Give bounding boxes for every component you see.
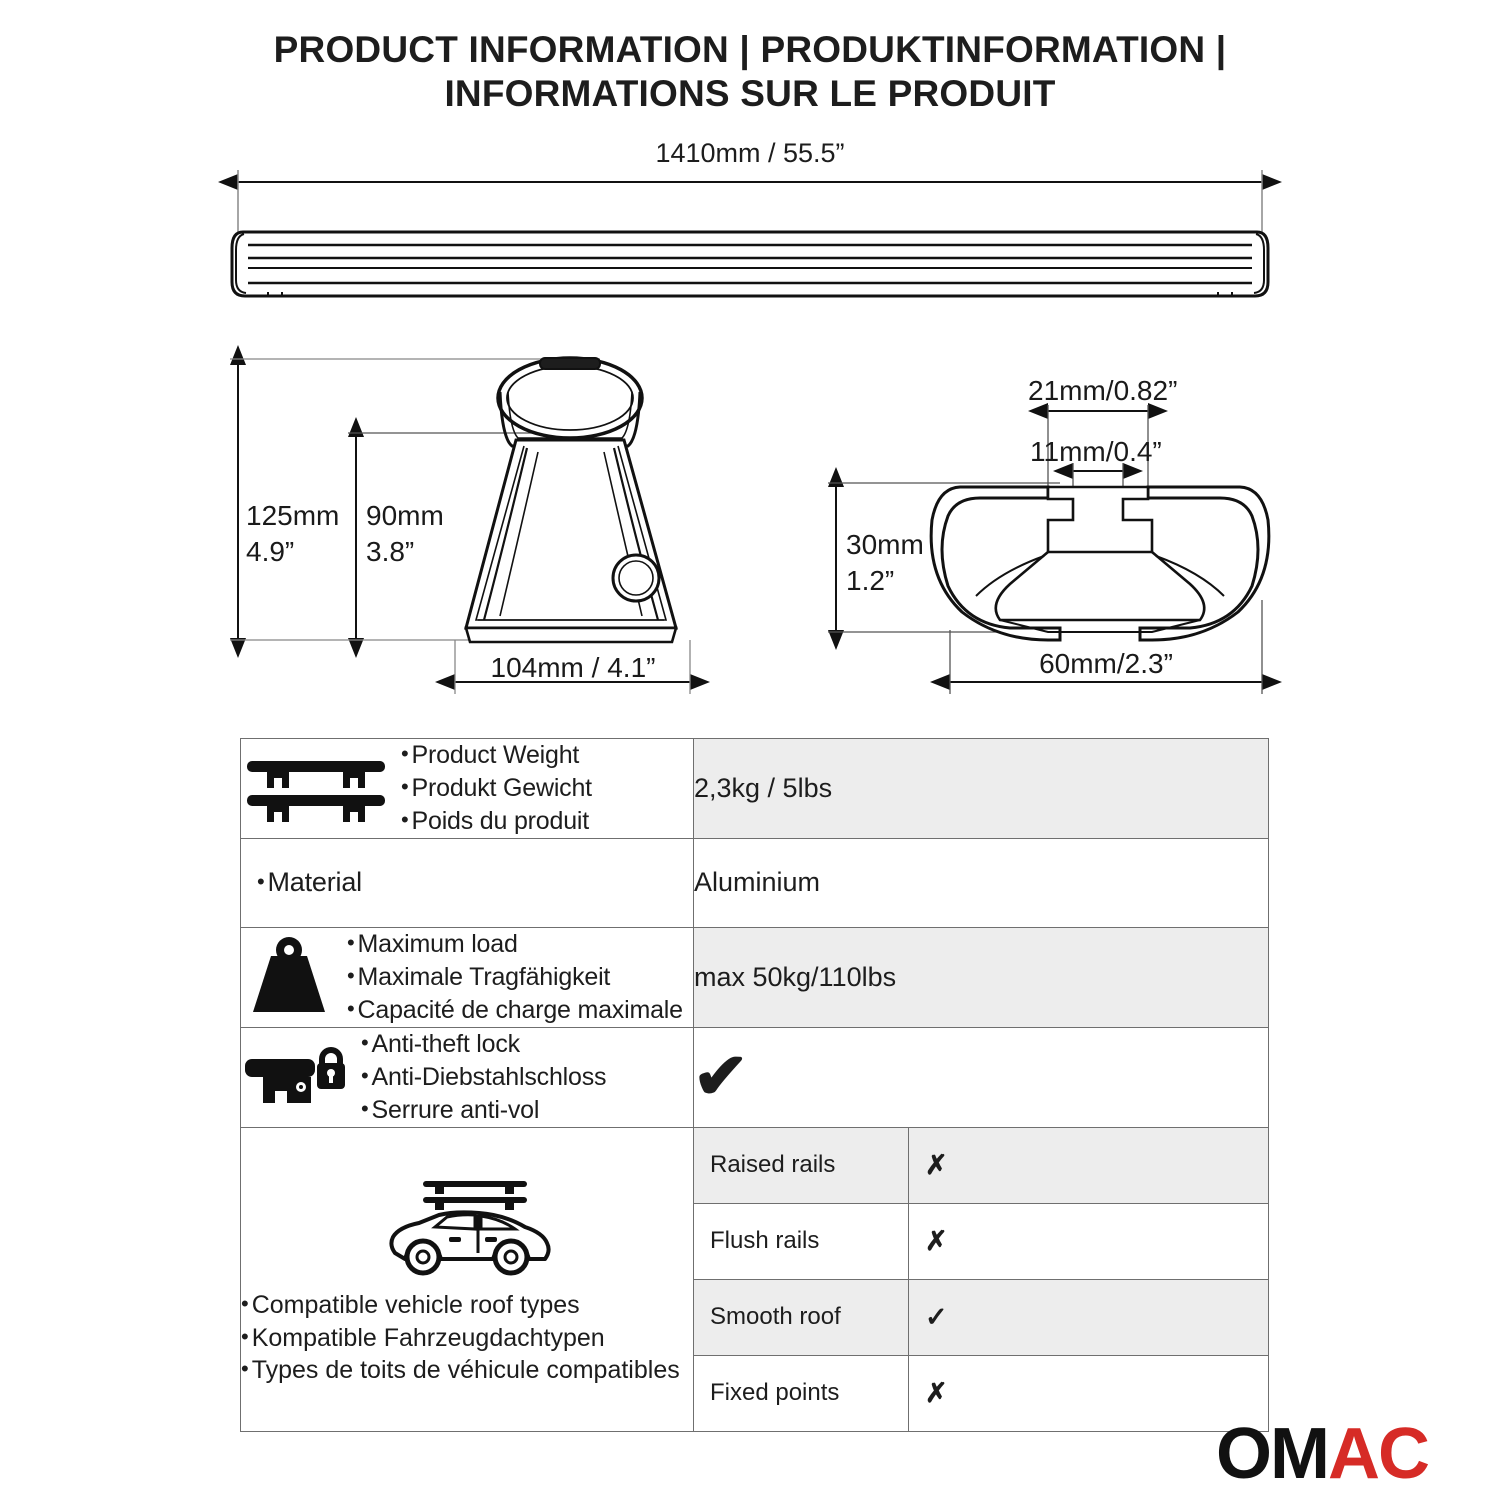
row-lock-value: ✔ bbox=[694, 1027, 1269, 1127]
logo-text-red: AC bbox=[1328, 1414, 1428, 1494]
roof-type-row: Smooth roof ✓ bbox=[694, 1279, 1268, 1355]
table-row: Maximum load Maximale Tragfähigkeit Capa… bbox=[241, 927, 1269, 1027]
row-roof-label-cell: Compatible vehicle roof types Kompatible… bbox=[241, 1127, 694, 1431]
logo-text-dark: OM bbox=[1216, 1414, 1328, 1494]
car-roof-icon bbox=[241, 1171, 693, 1283]
product-information-page: PRODUCT INFORMATION | PRODUKTINFORMATION… bbox=[0, 0, 1500, 1500]
roof-type-label: Raised rails bbox=[694, 1128, 909, 1204]
page-title-line2: INFORMATIONS SUR LE PRODUIT bbox=[0, 72, 1500, 116]
check-mark-icon: ✓ bbox=[925, 1302, 948, 1332]
row-lock-label-cell: Anti-theft lock Anti-Diebstahlschloss Se… bbox=[241, 1027, 694, 1127]
cross-mark-icon: ✗ bbox=[925, 1150, 948, 1180]
roof-type-mark: ✗ bbox=[909, 1355, 1269, 1431]
table-row: Anti-theft lock Anti-Diebstahlschloss Se… bbox=[241, 1027, 1269, 1127]
row-maxload-bullets: Maximum load Maximale Tragfähigkeit Capa… bbox=[347, 928, 683, 1027]
row-weight-value: 2,3kg / 5lbs bbox=[694, 739, 1269, 839]
foot-height-total-label: 125mm 4.9” bbox=[246, 498, 339, 571]
slot-outer-label: 21mm/0.82” bbox=[1028, 375, 1177, 407]
roof-type-row: Raised rails ✗ bbox=[694, 1128, 1268, 1204]
lock-icon bbox=[241, 1041, 351, 1113]
slot-inner-label: 11mm/0.4” bbox=[1030, 436, 1162, 468]
table-row: Compatible vehicle roof types Kompatible… bbox=[241, 1127, 1269, 1431]
specification-table: Product Weight Produkt Gewicht Poids du … bbox=[240, 738, 1269, 1432]
row-material-bullets: Material bbox=[241, 839, 693, 927]
row-material-value: Aluminium bbox=[694, 839, 1269, 928]
bar-cross-section bbox=[931, 487, 1269, 640]
roof-types-subtable: Raised rails ✗ Flush rails ✗ bbox=[694, 1128, 1268, 1431]
check-mark-icon: ✔ bbox=[693, 1048, 749, 1106]
row-lock-bullets: Anti-theft lock Anti-Diebstahlschloss Se… bbox=[361, 1028, 606, 1127]
row-weight-label-cell: Product Weight Produkt Gewicht Poids du … bbox=[241, 739, 694, 839]
crossbar-side-view bbox=[232, 232, 1268, 296]
roof-type-label: Flush rails bbox=[694, 1203, 909, 1279]
table-row: Material Aluminium bbox=[241, 839, 1269, 928]
cross-mark-icon: ✗ bbox=[925, 1378, 948, 1408]
roof-type-row: Fixed points ✗ bbox=[694, 1355, 1268, 1431]
roof-type-row: Flush rails ✗ bbox=[694, 1203, 1268, 1279]
page-title-line1: PRODUCT INFORMATION | PRODUKTINFORMATION… bbox=[274, 29, 1227, 70]
weight-icon bbox=[241, 936, 337, 1018]
crossbars-icon bbox=[241, 753, 391, 825]
bar-length-label: 1410mm / 55.5” bbox=[0, 138, 1500, 169]
roof-type-label: Smooth roof bbox=[694, 1279, 909, 1355]
row-material-label-cell: Material bbox=[241, 839, 694, 928]
page-title: PRODUCT INFORMATION | PRODUKTINFORMATION… bbox=[0, 28, 1500, 115]
foot-front-view bbox=[466, 358, 676, 642]
roof-type-mark: ✗ bbox=[909, 1128, 1269, 1204]
foot-height-inner-label: 90mm 3.8” bbox=[366, 498, 444, 571]
roof-type-mark: ✓ bbox=[909, 1279, 1269, 1355]
foot-width-label: 104mm / 4.1” bbox=[455, 652, 691, 684]
row-roof-bullets: Compatible vehicle roof types Kompatible… bbox=[241, 1289, 693, 1387]
crossbar-length-dimension bbox=[238, 170, 1262, 232]
row-maxload-label-cell: Maximum load Maximale Tragfähigkeit Capa… bbox=[241, 927, 694, 1027]
roof-types-subtable-cell: Raised rails ✗ Flush rails ✗ bbox=[694, 1127, 1269, 1431]
cross-mark-icon: ✗ bbox=[925, 1226, 948, 1256]
roof-type-mark: ✗ bbox=[909, 1203, 1269, 1279]
row-weight-bullets: Product Weight Produkt Gewicht Poids du … bbox=[401, 739, 592, 838]
row-maxload-value: max 50kg/110lbs bbox=[694, 927, 1269, 1027]
section-width-label: 60mm/2.3” bbox=[950, 648, 1262, 680]
table-row: Product Weight Produkt Gewicht Poids du … bbox=[241, 739, 1269, 839]
section-height-label: 30mm 1.2” bbox=[846, 527, 924, 600]
roof-type-label: Fixed points bbox=[694, 1355, 909, 1431]
omac-logo: OMAC bbox=[1216, 1418, 1428, 1490]
